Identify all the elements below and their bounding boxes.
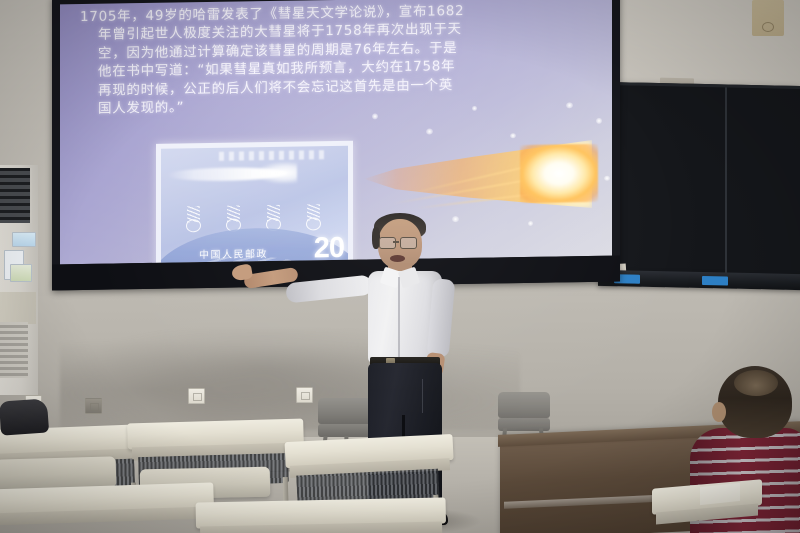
comet-symbol-icon [303, 204, 323, 230]
classroom-photo: 1705年，49岁的哈雷发表了《彗星天文学论说》，宣布1682 年曾引起世人极度… [0, 0, 800, 533]
power-outlet[interactable] [85, 398, 102, 414]
glasses-bridge-icon [393, 241, 399, 243]
star-icon [596, 118, 602, 124]
wall-plaque [752, 0, 784, 36]
ac-lower-grille-icon [0, 322, 28, 378]
blackboard-panel-divider [725, 87, 727, 277]
stamp-comet-head [257, 162, 297, 185]
backpack[interactable] [0, 398, 49, 435]
comet-nucleus [520, 144, 598, 203]
star-icon [528, 221, 533, 226]
power-outlet[interactable] [188, 388, 205, 404]
ac-mid-band [0, 292, 36, 324]
comet-symbol-icon [183, 206, 203, 232]
star-icon [604, 176, 610, 181]
foreground-desk[interactable] [196, 497, 447, 533]
glasses-icon [379, 237, 396, 249]
star-icon [372, 113, 378, 119]
comet-symbol-icon [223, 205, 243, 231]
foreground-desk[interactable] [0, 482, 215, 533]
stamp-top-caption [219, 150, 327, 161]
star-icon [426, 128, 433, 134]
student-desk[interactable] [285, 434, 456, 506]
chair-backrest [498, 392, 550, 418]
comet-symbol-icon [263, 205, 283, 231]
attendee-ear [712, 402, 726, 422]
glasses-icon [400, 237, 417, 249]
attendee-scalp [734, 370, 778, 396]
star-icon [566, 102, 573, 108]
tray-label [702, 276, 728, 286]
presenter-mouth [390, 255, 405, 262]
star-icon [510, 133, 516, 138]
stamp-country-text: 中国人民邮政 [199, 245, 268, 261]
power-outlet[interactable] [296, 387, 313, 403]
star-icon [472, 106, 477, 111]
ac-sticker [12, 232, 36, 247]
trouser-pocket [422, 379, 440, 413]
ac-sticker [10, 264, 32, 282]
blackboard [604, 82, 800, 282]
presenter-shirt-placket [398, 277, 400, 361]
ac-vent-grille-icon [0, 168, 32, 223]
stamp-artwork: 中国人民邮政 20 [161, 146, 348, 264]
postage-stamp: 中国人民邮政 20 [156, 141, 353, 265]
foreground-chair-back[interactable] [0, 456, 116, 489]
